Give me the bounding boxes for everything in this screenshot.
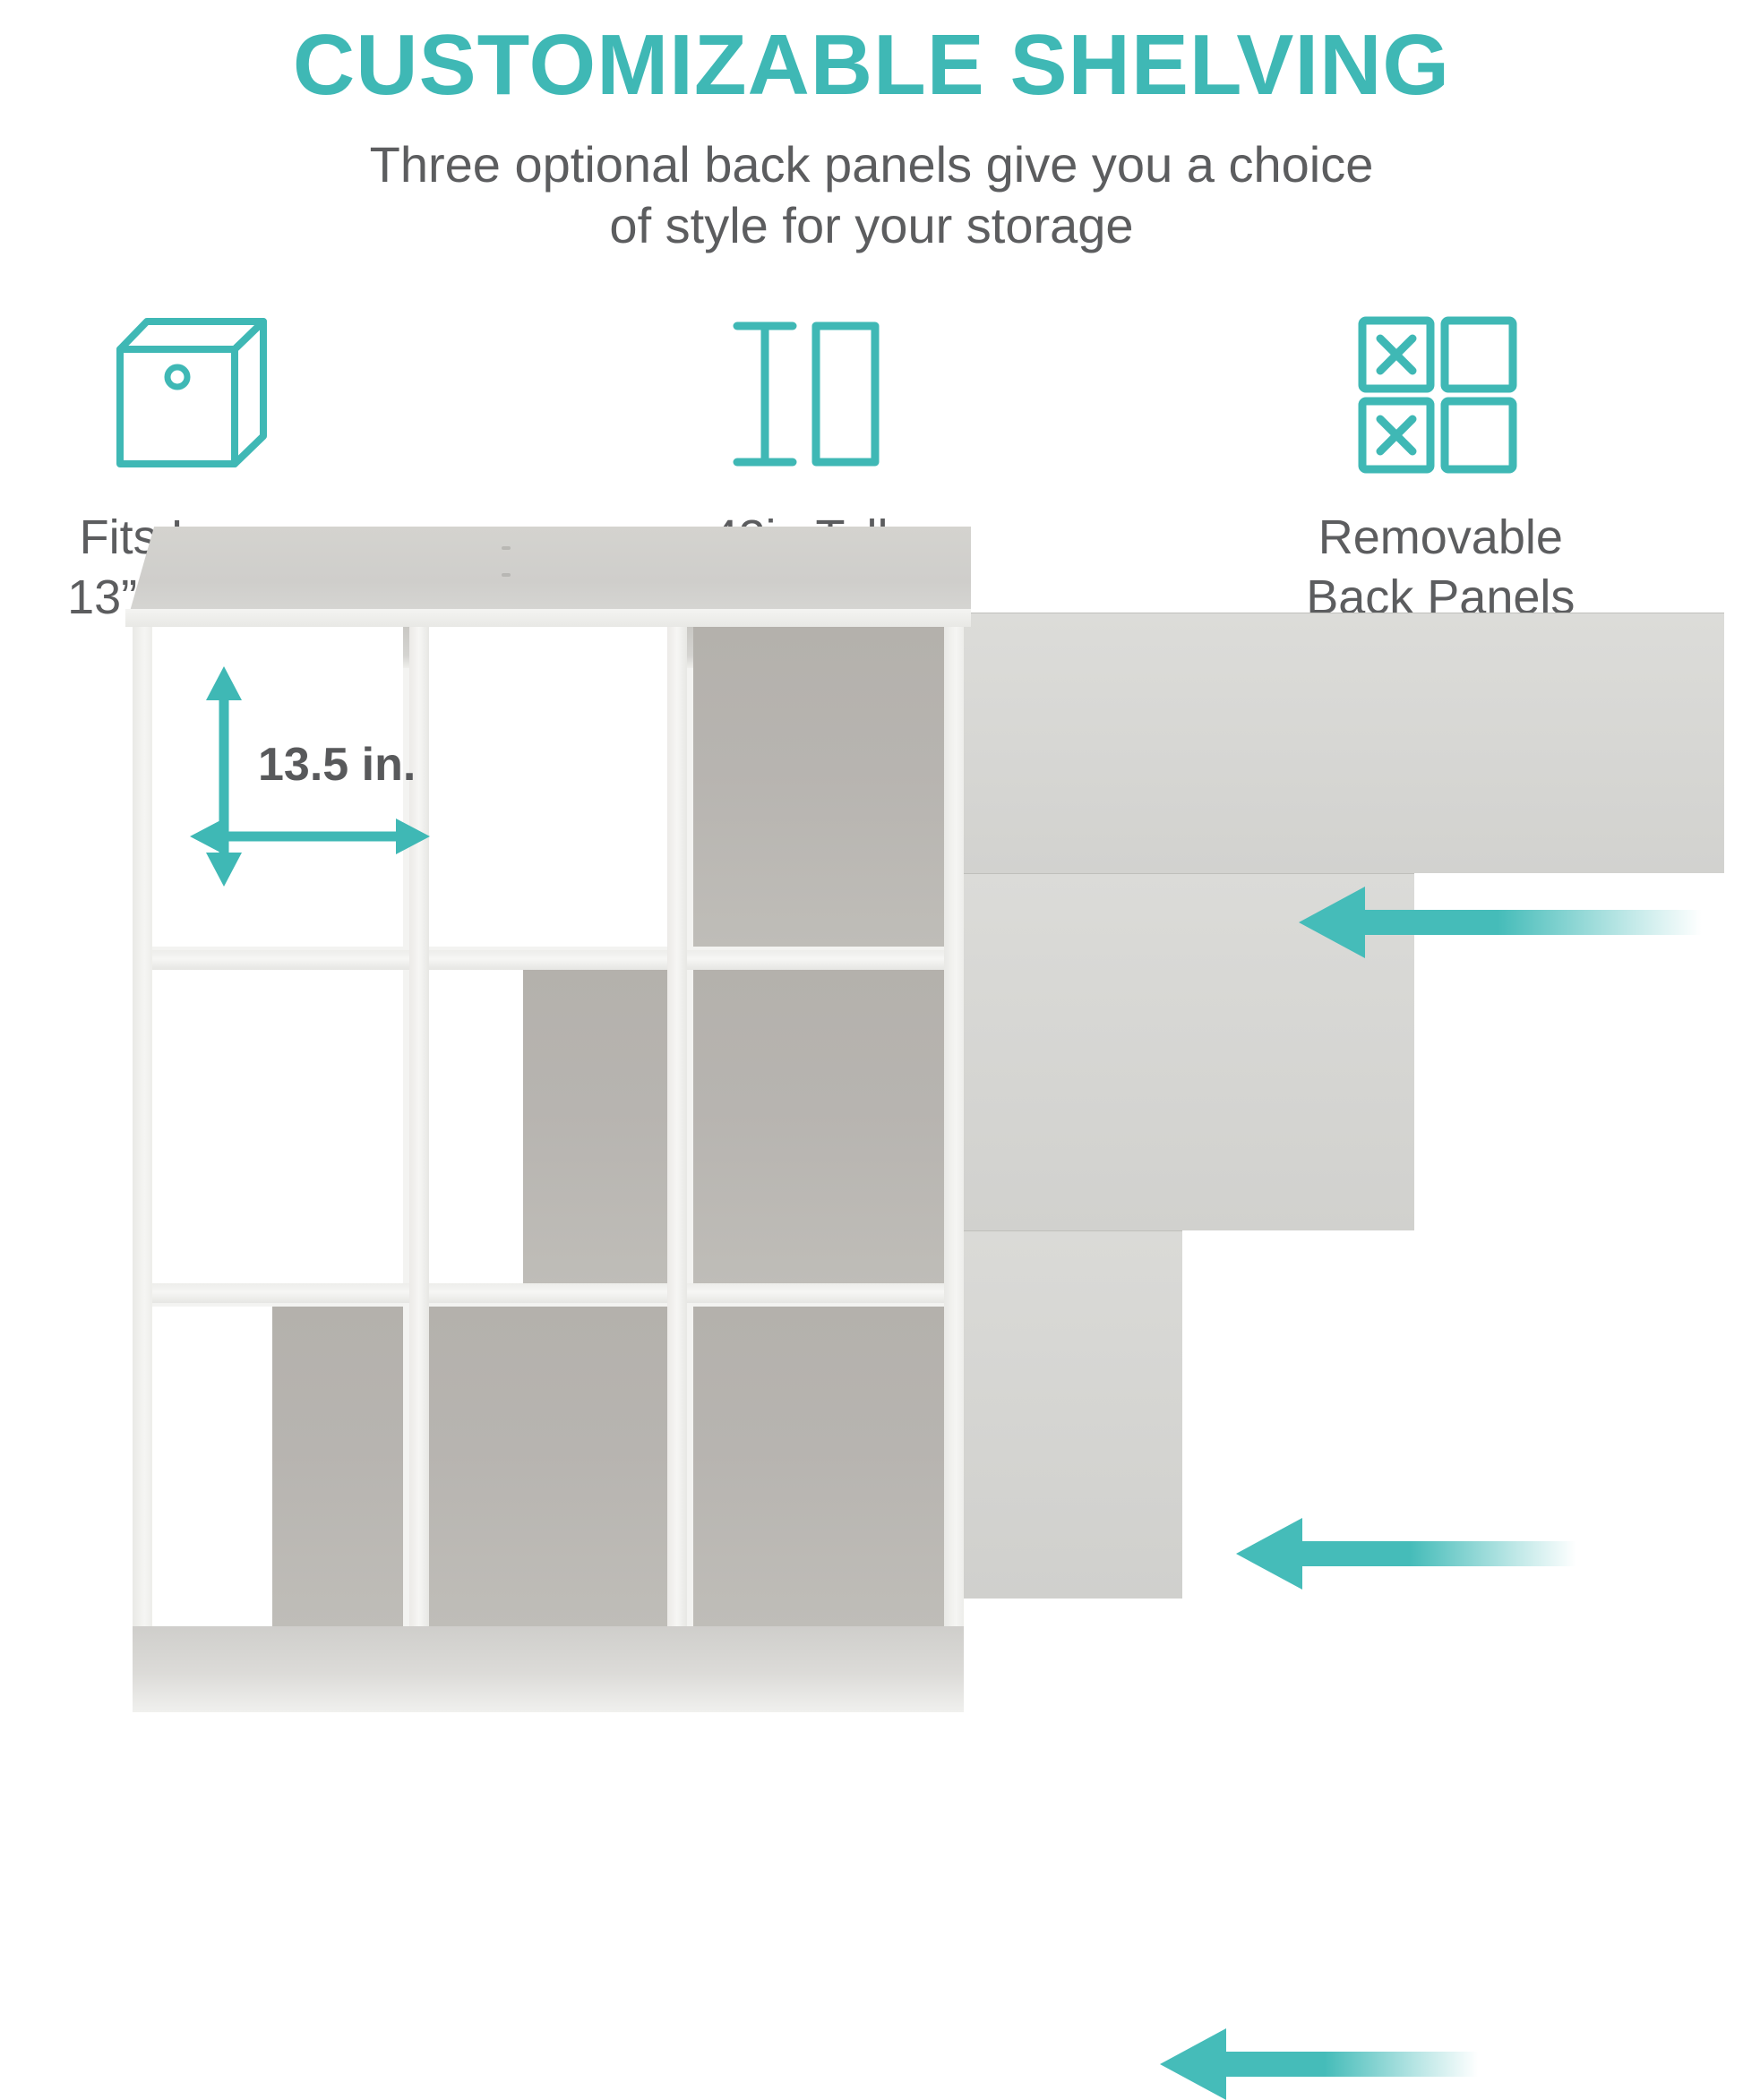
feature-3-label: Removable Back Panels (1306, 508, 1575, 628)
feature-3-label-line-1: Removable (1306, 508, 1575, 568)
feature-removable-back-panels: Removable Back Panels (1138, 297, 1743, 628)
shelf-divider-vertical-1 (409, 627, 429, 1626)
back-panel-bottom[interactable] (929, 1230, 1182, 1599)
cubby-grid (152, 627, 944, 1626)
arrow-left-icon-middle (1236, 1518, 1576, 1590)
infographic-header: CUSTOMIZABLE SHELVING Three optional bac… (0, 0, 1743, 256)
cubby-row2-col1[interactable] (152, 966, 403, 1286)
storage-cube-basket-icon (106, 297, 285, 490)
shelf-divider-vertical-2 (667, 627, 687, 1626)
cubby-row2-col3[interactable] (693, 966, 944, 1286)
subtitle-line-2: of style for your storage (0, 195, 1743, 256)
arrow-left-icon-bottom (1160, 2028, 1478, 2100)
product-illustration: 13.5 in. (0, 627, 1743, 1743)
cubby-row3-col1[interactable] (152, 1307, 403, 1626)
shelf-top-surface (125, 527, 971, 627)
cubby-row1-col1[interactable] (152, 627, 403, 947)
shelf-side-left (133, 627, 152, 1712)
removable-panels-grid-icon (1355, 297, 1525, 490)
cubby-row1-col2[interactable] (423, 627, 674, 947)
shelf-board-horizontal-1 (133, 950, 964, 970)
page-subtitle: Three optional back panels give you a ch… (0, 134, 1743, 257)
shelf-board-horizontal-2 (133, 1283, 964, 1303)
back-panel-middle[interactable] (929, 873, 1414, 1230)
back-panel-top[interactable] (929, 613, 1724, 873)
cubby-row2-col2[interactable] (423, 966, 674, 1286)
cube-shelving-unit[interactable]: 13.5 in. (133, 627, 964, 1712)
cubby-row3-col2[interactable] (423, 1307, 674, 1626)
cubby-row3-col3[interactable] (693, 1307, 944, 1626)
cubby-row1-col3[interactable] (693, 627, 944, 947)
shelf-base-board (133, 1626, 964, 1712)
height-measure-icon (710, 297, 889, 490)
subtitle-line-1: Three optional back panels give you a ch… (0, 134, 1743, 195)
shelf-frame (133, 627, 964, 1712)
page-title: CUSTOMIZABLE SHELVING (0, 20, 1743, 111)
shelf-side-right (944, 627, 964, 1712)
